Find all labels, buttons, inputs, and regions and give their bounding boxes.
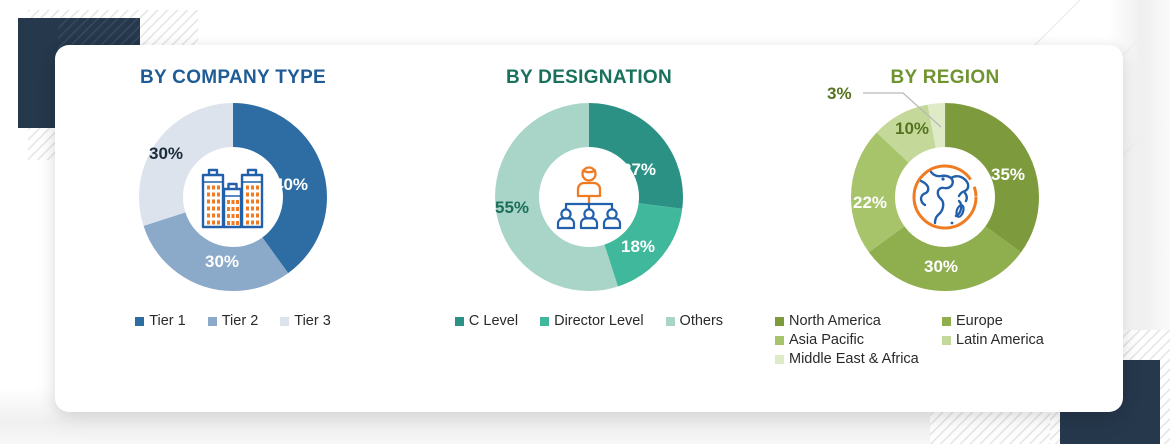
legend-label: C Level [469,313,518,329]
legend-label: Europe [956,313,1003,329]
legend-swatch-icon [942,336,951,345]
legend-item-director-level[interactable]: Director Level [540,313,643,329]
legend-label: North America [789,313,881,329]
legend-label: Tier 3 [294,313,331,329]
legend-item-latin-america[interactable]: Latin America [942,332,1109,348]
panel-title-region: BY REGION [767,67,1123,89]
legend-item-europe[interactable]: Europe [942,313,1109,329]
legend-swatch-icon [775,317,784,326]
legend-label: Director Level [554,313,643,329]
panel-company-type: BY COMPANY TYPE [55,45,411,412]
legend-label: Latin America [956,332,1044,348]
legend-item-c-level[interactable]: C Level [455,313,518,329]
donut-wrap-designation: 27% 18% 55% [411,89,767,304]
legend-label: Tier 2 [222,313,259,329]
legend-label: Asia Pacific [789,332,864,348]
donut-wrap-region: 35% 30% 22% 10% 3% [767,89,1123,304]
legend-swatch-icon [942,317,951,326]
charts-card: BY COMPANY TYPE [55,45,1123,412]
legend-item-tier-2[interactable]: Tier 2 [208,313,259,329]
legend-swatch-icon [280,317,289,326]
legend-region: North America Europe Asia Pacific Latin … [767,313,1123,367]
legend-label: Others [680,313,724,329]
legend-item-middle-east-africa[interactable]: Middle East & Africa [775,351,942,367]
legend-item-north-america[interactable]: North America [775,313,942,329]
legend-swatch-icon [775,336,784,345]
legend-item-tier-1[interactable]: Tier 1 [135,313,186,329]
panel-title-designation: BY DESIGNATION [411,67,767,89]
donut-chart-region[interactable]: 35% 30% 22% 10% 3% [845,97,1045,297]
page-background: BY COMPANY TYPE [0,0,1170,444]
legend-swatch-icon [208,317,217,326]
legend-label: Tier 1 [149,313,186,329]
legend-swatch-icon [455,317,464,326]
panel-designation: BY DESIGNATION [411,45,767,412]
legend-designation: C Level Director Level Others [411,313,767,329]
legend-item-others[interactable]: Others [666,313,724,329]
charts-row: BY COMPANY TYPE [55,45,1123,412]
panel-region: BY REGION [767,45,1123,412]
legend-item-tier-3[interactable]: Tier 3 [280,313,331,329]
legend-swatch-icon [540,317,549,326]
legend-swatch-icon [775,355,784,364]
legend-swatch-icon [666,317,675,326]
donut-chart-designation[interactable]: 27% 18% 55% [489,97,689,297]
donut-chart-company-type[interactable]: 40% 30% 30% [133,97,333,297]
legend-item-asia-pacific[interactable]: Asia Pacific [775,332,942,348]
panel-title-company-type: BY COMPANY TYPE [55,67,411,89]
legend-label: Middle East & Africa [789,351,919,367]
legend-swatch-icon [135,317,144,326]
legend-company-type: Tier 1 Tier 2 Tier 3 [55,313,411,329]
donut-wrap-company-type: 40% 30% 30% [55,89,411,304]
